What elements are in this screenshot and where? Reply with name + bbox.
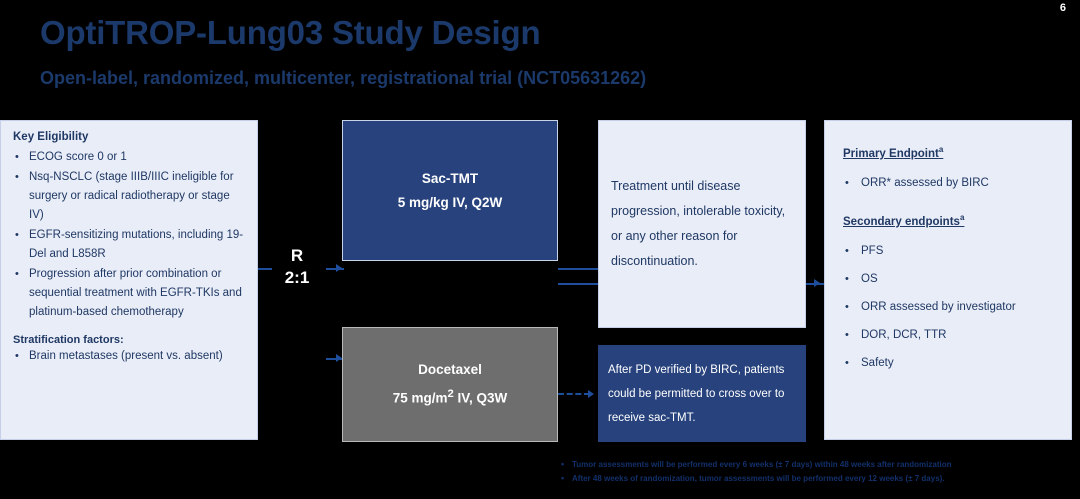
arm-name: Docetaxel	[418, 358, 482, 382]
list-item: ORR assessed by investigator	[839, 293, 1057, 321]
list-item: ECOG score 0 or 1	[11, 148, 247, 167]
list-item: OS	[839, 265, 1057, 293]
arm-dose: 5 mg/kg IV, Q2W	[398, 191, 503, 215]
list-item: DOR, DCR, TTR	[839, 321, 1057, 349]
list-item: ORR* assessed by BIRC	[839, 169, 1057, 197]
list-item: Nsq-NSCLC (stage IIIB/IIIC ineligible fo…	[11, 168, 247, 225]
primary-endpoint-heading-text: Primary Endpoint	[843, 148, 939, 160]
page-title: OptiTROP-Lung03 Study Design	[40, 14, 540, 52]
primary-endpoint-footnote-marker: a	[939, 145, 943, 154]
primary-endpoint-list: ORR* assessed by BIRC	[839, 169, 1057, 197]
list-item: EGFR-sensitizing mutations, including 19…	[11, 226, 247, 264]
arm-dose-suffix: IV, Q3W	[454, 391, 508, 406]
randomization-letter: R	[268, 245, 326, 267]
key-eligibility-panel: Key Eligibility ECOG score 0 or 1 Nsq-NS…	[0, 120, 258, 440]
list-item: Brain metastases (present vs. absent)	[11, 348, 247, 365]
page-number: 6	[1060, 2, 1066, 14]
randomization-ratio: 2:1	[268, 267, 326, 289]
secondary-endpoints-heading-text: Secondary endpoints	[843, 216, 960, 228]
arm-dose: 75 mg/m2 IV, Q3W	[393, 382, 508, 411]
list-item: Safety	[839, 349, 1057, 377]
treatment-duration-box: Treatment until disease progression, int…	[598, 120, 806, 328]
eligibility-criteria-list: ECOG score 0 or 1 Nsq-NSCLC (stage IIIB/…	[11, 148, 247, 322]
stratification-heading: Stratification factors:	[13, 334, 247, 346]
footnote-list: Tumor assessments will be performed ever…	[560, 458, 1076, 486]
crossover-text: After PD verified by BIRC, patients coul…	[608, 358, 796, 430]
arm-dose-prefix: 75 mg/m	[393, 391, 448, 406]
secondary-endpoints-list: PFS OS ORR assessed by investigator DOR,…	[839, 237, 1057, 377]
arrowhead-r-to-sac	[336, 264, 342, 272]
secondary-endpoints-footnote-marker: a	[960, 213, 964, 222]
arm-name: Sac-TMT	[422, 167, 478, 191]
arrowhead-to-endpoints	[814, 279, 820, 287]
footnote-item: After 48 weeks of randomization, tumor a…	[560, 472, 1076, 486]
footnote-item: Tumor assessments will be performed ever…	[560, 458, 1076, 472]
key-eligibility-heading: Key Eligibility	[13, 131, 247, 143]
list-item: PFS	[839, 237, 1057, 265]
treatment-duration-text: Treatment until disease progression, int…	[611, 174, 793, 274]
randomization-label: R 2:1	[268, 245, 326, 289]
endpoints-panel: Primary Endpointa ORR* assessed by BIRC …	[824, 120, 1072, 440]
arrowhead-to-crossover	[588, 390, 594, 398]
connector-sac-to-treatment	[558, 268, 598, 270]
treatment-arm-docetaxel: Docetaxel 75 mg/m2 IV, Q3W	[342, 327, 558, 442]
secondary-endpoints-heading: Secondary endpointsa	[843, 213, 1057, 228]
stratification-factors-list: Brain metastases (present vs. absent)	[11, 348, 247, 365]
primary-endpoint-heading: Primary Endpointa	[843, 145, 1057, 160]
list-item: Progression after prior combination or s…	[11, 265, 247, 322]
treatment-arm-sac-tmt: Sac-TMT 5 mg/kg IV, Q2W	[342, 120, 558, 261]
connector-eligibility-to-r	[258, 268, 272, 270]
connector-docetaxel-to-crossover	[558, 393, 590, 395]
slide-canvas: 6 OptiTROP-Lung03 Study Design Open-labe…	[0, 0, 1080, 499]
page-subtitle: Open-label, randomized, multicenter, reg…	[40, 68, 646, 89]
footnotes: Tumor assessments will be performed ever…	[560, 458, 1076, 486]
crossover-box: After PD verified by BIRC, patients coul…	[598, 345, 806, 442]
